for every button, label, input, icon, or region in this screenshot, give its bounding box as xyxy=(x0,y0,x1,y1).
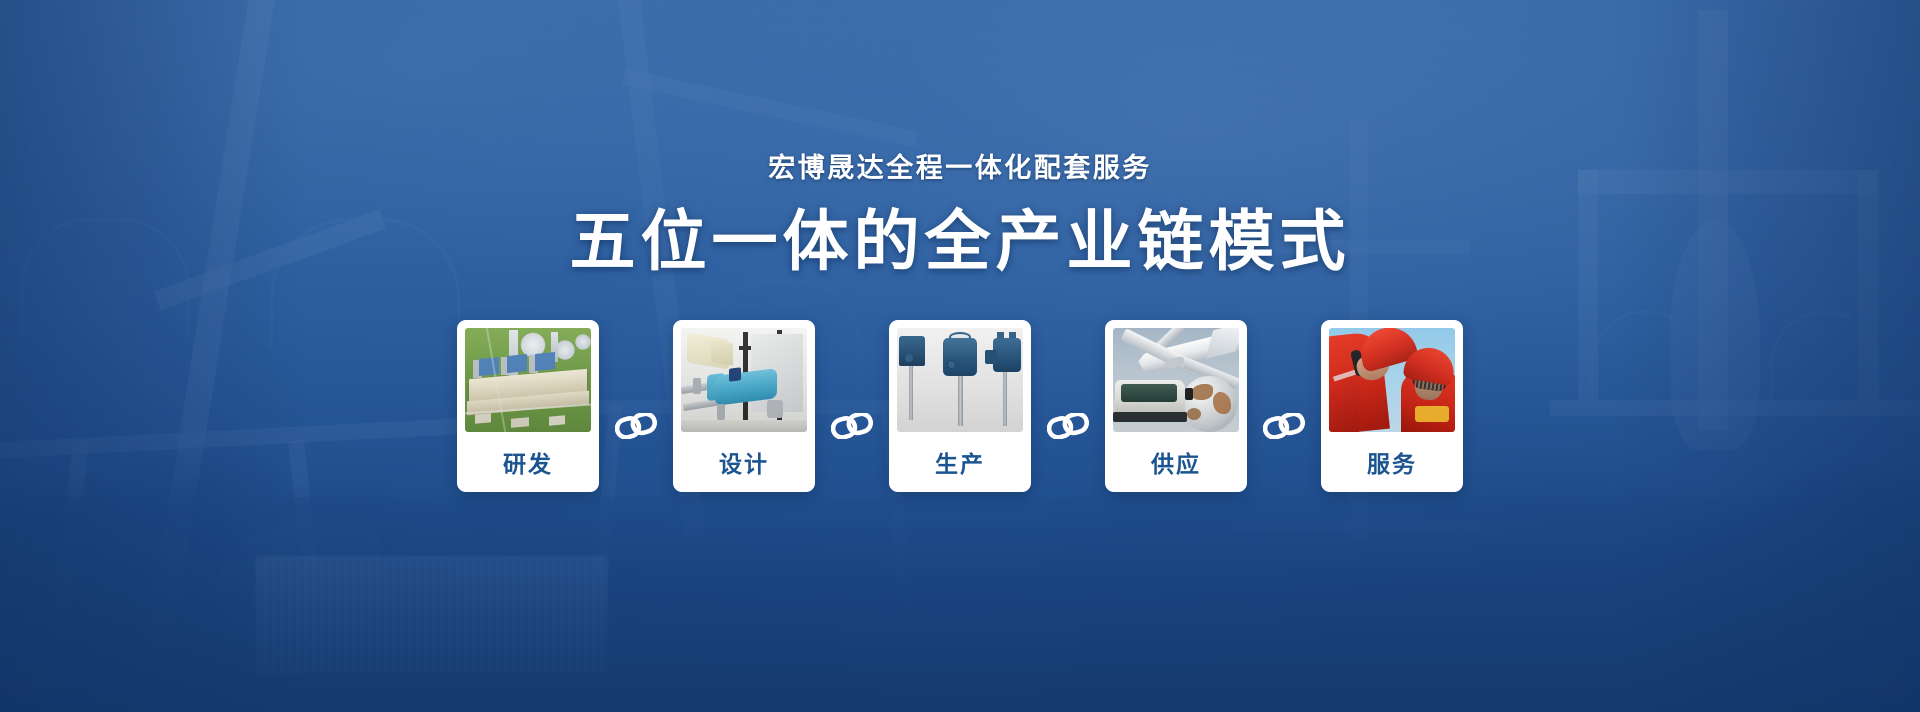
banner-title: 五位一体的全产业链模式 xyxy=(570,207,1351,276)
chain-card-design[interactable]: 设计 xyxy=(673,320,815,492)
chain-card-label-design: 设计 xyxy=(719,432,769,492)
chain-card-label-rd: 研发 xyxy=(503,432,553,492)
chain-card-image-production xyxy=(897,328,1023,432)
chain-card-label-production: 生产 xyxy=(935,432,985,492)
chain-card-image-service xyxy=(1329,328,1455,432)
hero-banner: 宏博晟达全程一体化配套服务 五位一体的全产业链模式 研发 xyxy=(0,0,1920,712)
chain-link-icon xyxy=(615,413,657,439)
banner-content: 宏博晟达全程一体化配套服务 五位一体的全产业链模式 研发 xyxy=(0,0,1920,712)
chain-connector-3 xyxy=(1031,320,1105,532)
chain-card-service[interactable]: 服务 xyxy=(1321,320,1463,492)
chain-card-image-design xyxy=(681,328,807,432)
banner-subtitle: 宏博晟达全程一体化配套服务 xyxy=(768,146,1152,185)
chain-card-label-supply: 供应 xyxy=(1151,432,1201,492)
chain-connector-1 xyxy=(599,320,673,532)
chain-card-label-service: 服务 xyxy=(1367,432,1417,492)
chain-link-icon xyxy=(1263,413,1305,439)
chain-card-rd[interactable]: 研发 xyxy=(457,320,599,492)
chain-card-image-rd xyxy=(465,328,591,432)
chain-card-supply[interactable]: 供应 xyxy=(1105,320,1247,492)
chain-link-icon xyxy=(831,413,873,439)
chain-card-production[interactable]: 生产 xyxy=(889,320,1031,492)
chain-card-image-supply xyxy=(1113,328,1239,432)
chain-connector-4 xyxy=(1247,320,1321,532)
chain-link-icon xyxy=(1047,413,1089,439)
chain-connector-2 xyxy=(815,320,889,532)
value-chain-row: 研发 设计 xyxy=(457,320,1463,532)
